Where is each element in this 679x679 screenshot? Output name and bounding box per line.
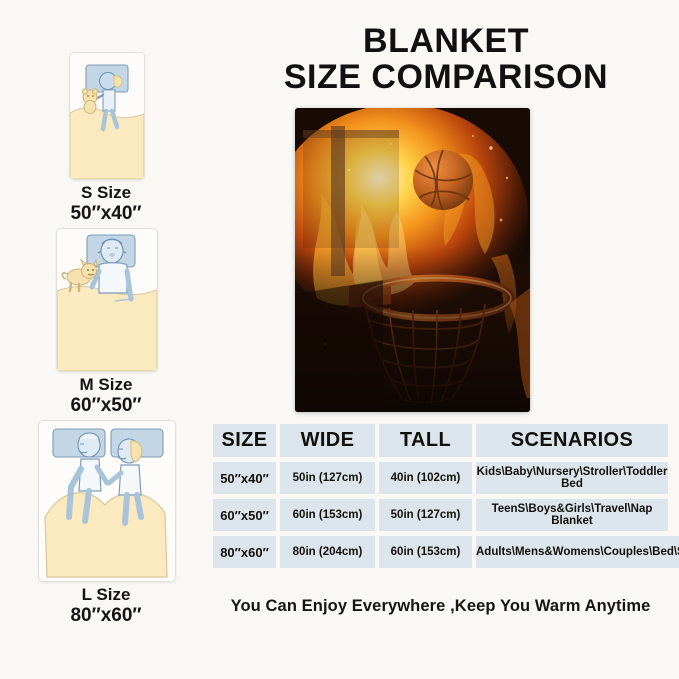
cell-wide: 80in (204cm): [280, 536, 375, 568]
cell-size: 50″x40″: [213, 462, 276, 494]
cell-wide: 50in (127cm): [280, 462, 375, 494]
size-dimensions-large: 80″x60″: [0, 605, 212, 627]
table-header-size: SIZE: [213, 424, 276, 457]
cell-scenarios: Adults\Mens&Womens\Couples\Bed\Sofa: [476, 536, 679, 568]
tagline: You Can Enjoy Everywhere ,Keep You Warm …: [213, 597, 668, 616]
size-comparison-column: S Size 50″x40″: [0, 0, 212, 679]
couple-in-bed-icon: [39, 421, 175, 581]
table-header-wide: WIDE: [280, 424, 375, 457]
size-label-large: L Size: [0, 585, 212, 605]
size-item-large: L Size 80″x60″: [0, 420, 212, 627]
table-row: 60″x50″ 60in (153cm) 50in (127cm) TeenS\…: [213, 499, 668, 531]
size-specification-table: SIZE WIDE TALL SCENARIOS 50″x40″ 50in (1…: [213, 424, 668, 573]
cell-size: 60″x50″: [213, 499, 276, 531]
infographic-canvas: BLANKET SIZE COMPARISON: [0, 0, 679, 679]
table-header-scenarios: SCENARIOS: [476, 424, 668, 457]
bed-card-large: [38, 420, 176, 582]
table-row: 80″x60″ 80in (204cm) 60in (153cm) Adults…: [213, 536, 668, 568]
product-photo-basketball-blanket: [295, 108, 530, 412]
cell-tall: 40in (102cm): [379, 462, 472, 494]
size-illustration-small: [69, 52, 143, 178]
table-row: 50″x40″ 50in (127cm) 40in (102cm) Kids\B…: [213, 462, 668, 494]
size-item-medium: M Size 60″x50″: [0, 228, 212, 417]
size-dimensions-medium: 60″x50″: [0, 395, 212, 417]
title-line-2: SIZE COMPARISON: [236, 60, 656, 96]
size-item-small: S Size 50″x40″: [0, 52, 212, 225]
size-label-small: S Size: [0, 183, 212, 203]
page-title: BLANKET SIZE COMPARISON: [236, 24, 656, 95]
man-with-dog-icon: [57, 229, 157, 371]
size-illustration-large: [38, 420, 174, 580]
cell-size: 80″x60″: [213, 536, 276, 568]
bed-card-small: [69, 52, 145, 180]
size-illustration-medium: [56, 228, 156, 370]
size-dimensions-small: 50″x40″: [0, 203, 212, 225]
cell-wide: 60in (153cm): [280, 499, 375, 531]
cell-scenarios: Kids\Baby\Nursery\Stroller\Toddler Bed: [476, 462, 668, 494]
flaming-basketball-hoop-image: [295, 108, 530, 412]
table-header-tall: TALL: [379, 424, 472, 457]
table-header-row: SIZE WIDE TALL SCENARIOS: [213, 424, 668, 457]
title-line-1: BLANKET: [236, 24, 656, 60]
cell-tall: 50in (127cm): [379, 499, 472, 531]
cell-tall: 60in (153cm): [379, 536, 472, 568]
child-with-teddy-bear-icon: [70, 53, 144, 179]
cell-scenarios: TeenS\Boys&Girls\Travel\Nap Blanket: [476, 499, 668, 531]
size-label-medium: M Size: [0, 375, 212, 395]
bed-card-medium: [56, 228, 158, 372]
